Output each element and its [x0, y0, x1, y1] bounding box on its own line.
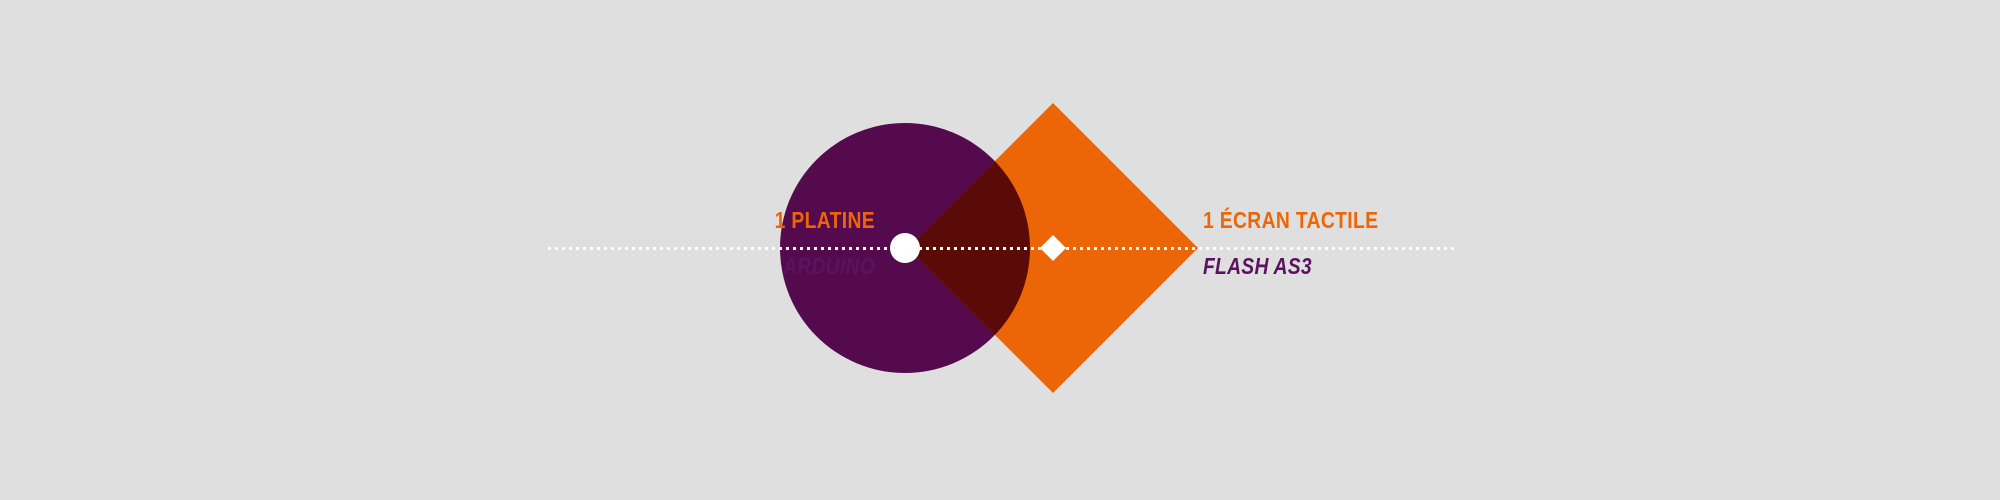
- diagram-canvas: 1 PLATINE ARDUINO 1 ÉCRAN TACTILE FLASH …: [0, 0, 2000, 500]
- circle-node-marker: [890, 233, 920, 263]
- left-label-title: 1 PLATINE: [522, 205, 875, 235]
- right-label-subtitle: FLASH AS3: [1203, 235, 1556, 281]
- venn-diagram: [0, 0, 2000, 500]
- left-label-group: 1 PLATINE ARDUINO: [455, 205, 875, 281]
- left-label-subtitle: ARDUINO: [522, 235, 875, 281]
- right-label-group: 1 ÉCRAN TACTILE FLASH AS3: [1203, 205, 1623, 281]
- right-label-title: 1 ÉCRAN TACTILE: [1203, 205, 1556, 235]
